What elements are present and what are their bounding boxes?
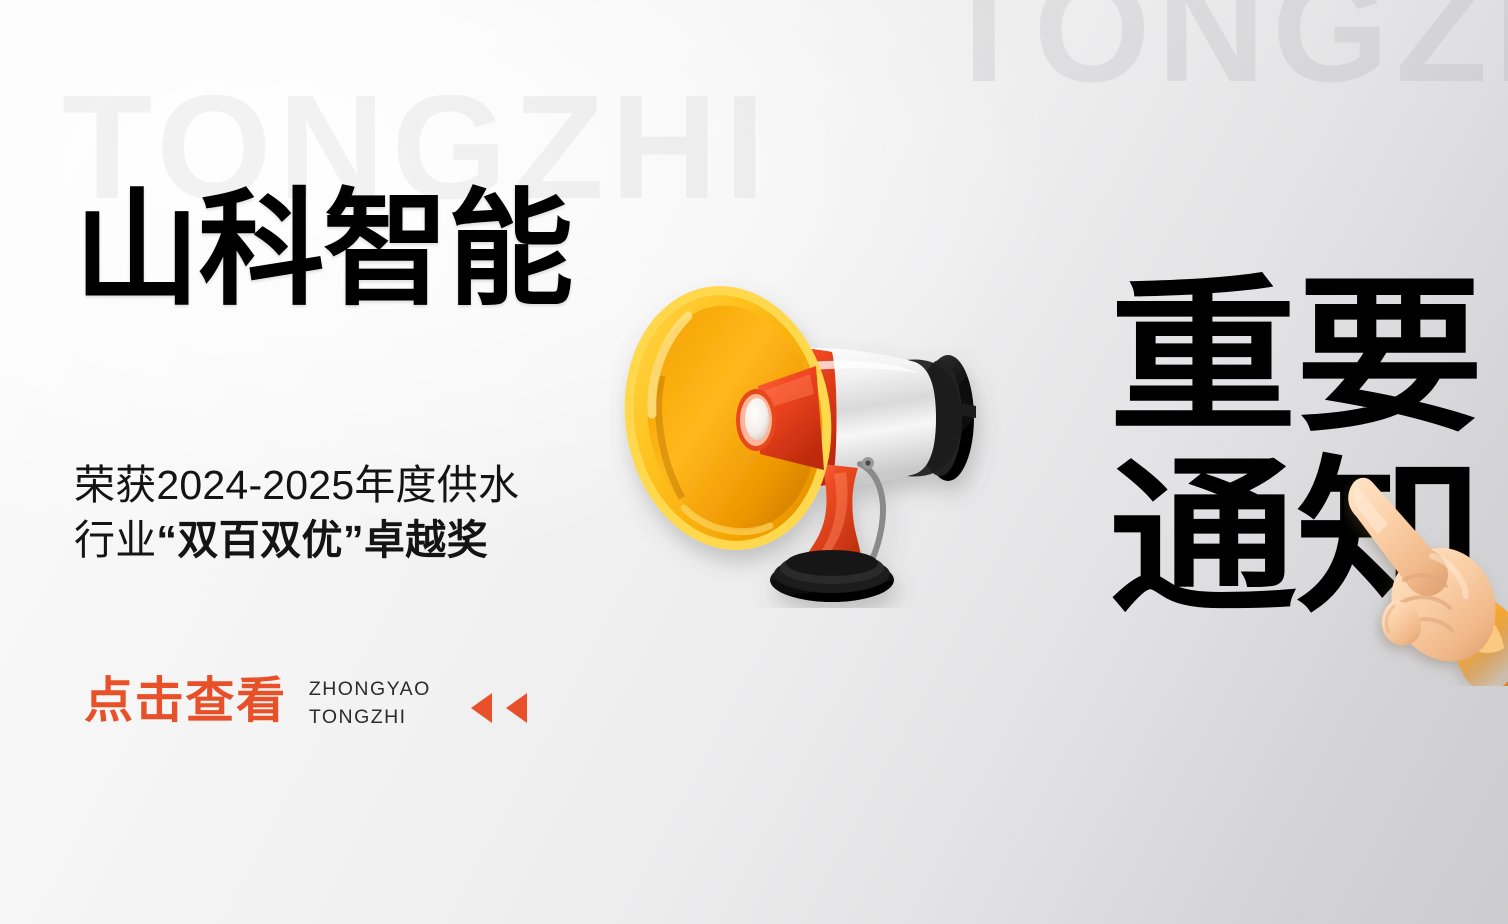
pointing-hand-icon (1344, 476, 1508, 686)
promo-banner: TONGZHI TONGZHI (0, 0, 1508, 924)
subtitle-line-2-suffix: 卓越奖 (364, 517, 488, 563)
view-details-button[interactable]: 点击查看 (84, 677, 287, 726)
subtitle-line-2-prefix: 行业 (74, 517, 156, 563)
cta-arrow-group (471, 681, 527, 723)
triangle-left-icon (471, 693, 492, 723)
headline-line-1: 重要 (1109, 276, 1482, 439)
cta-pinyin-line-1: ZHONGYAO (309, 675, 431, 703)
cta-pinyin-line-2: TONGZHI (309, 703, 431, 731)
cta-row[interactable]: 点击查看 ZHONGYAO TONGZHI (84, 672, 527, 732)
triangle-left-icon (506, 693, 527, 723)
megaphone-icon (610, 258, 1030, 608)
subtitle-award-name: “双百双优” (156, 517, 363, 563)
cta-pinyin-block: ZHONGYAO TONGZHI (309, 672, 431, 732)
watermark-text-top: TONGZHI (938, 0, 1508, 104)
